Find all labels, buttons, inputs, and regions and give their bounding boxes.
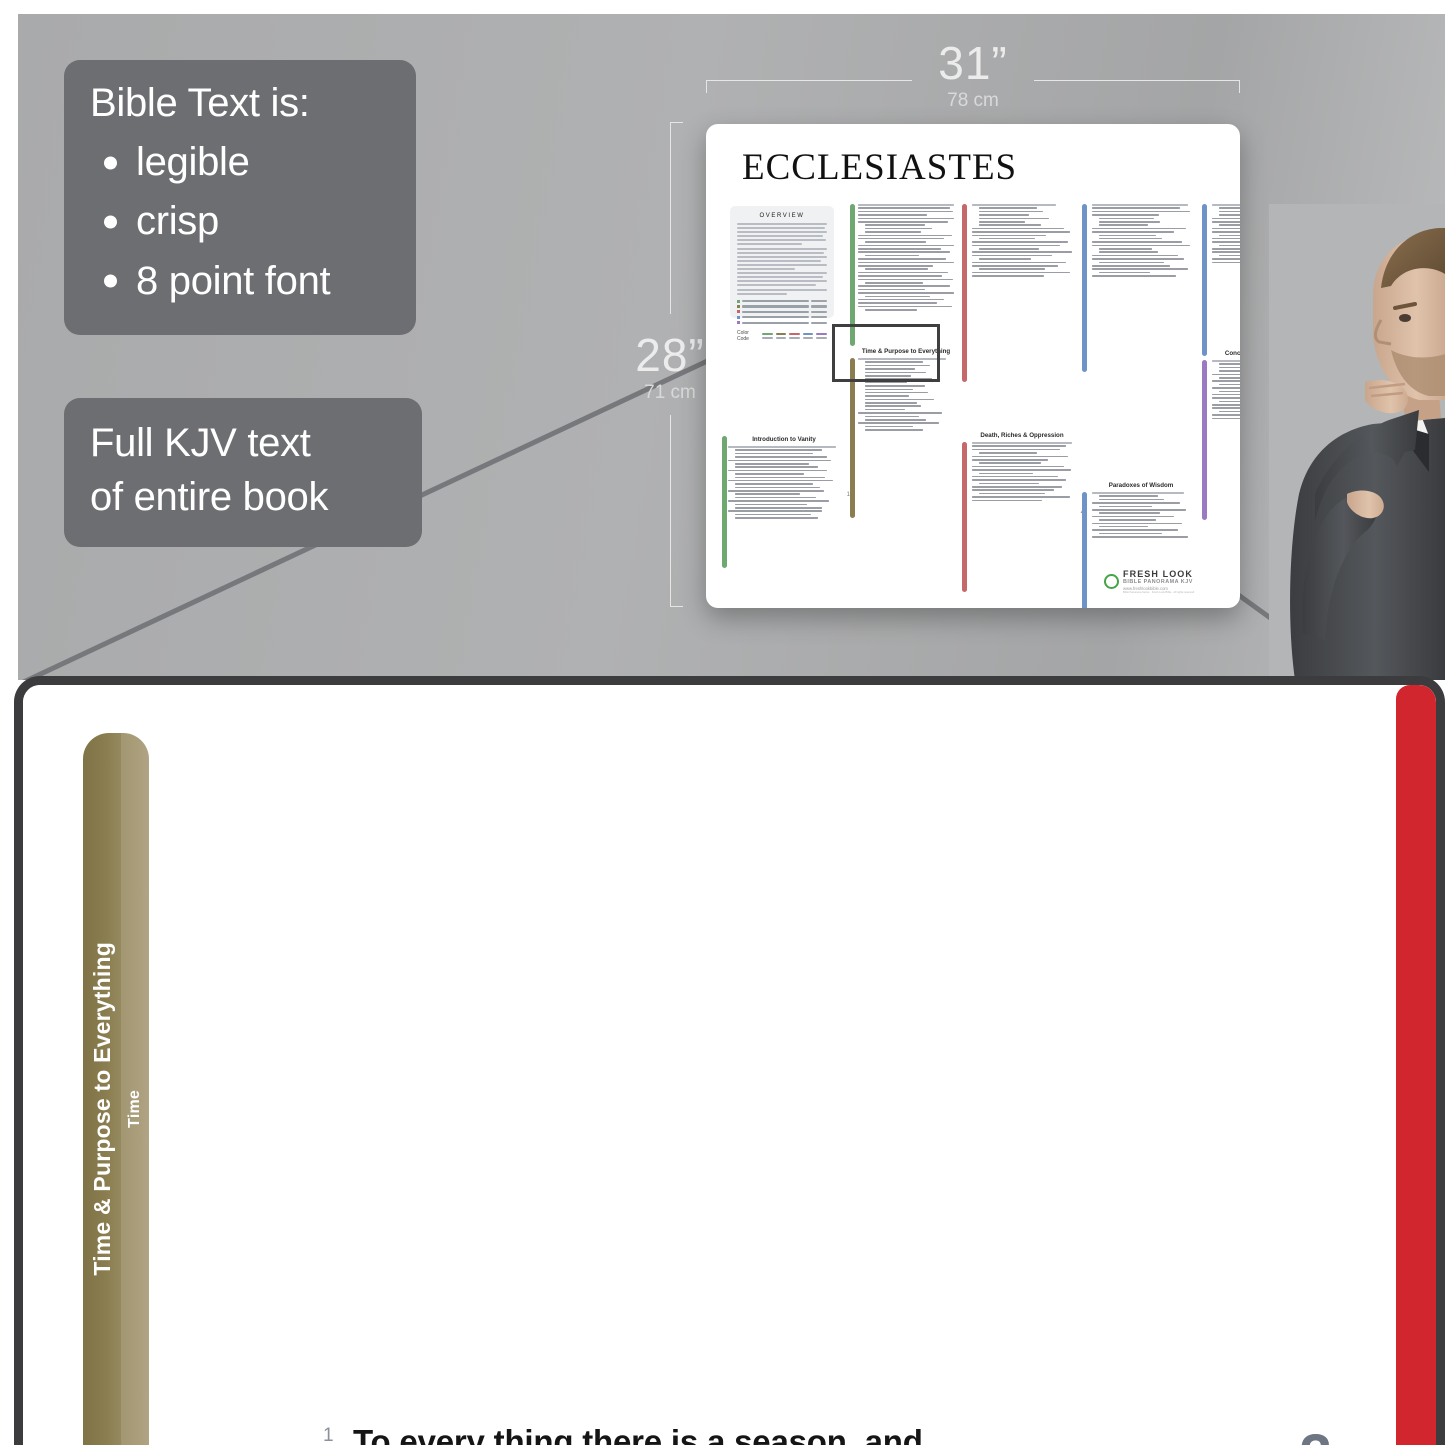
- overview-card: OVERVIEW: [730, 206, 834, 318]
- poster-logo: FRESH LOOK BIBLE PANORAMA KJV www.freshl…: [1104, 570, 1194, 594]
- section-tab-group[interactable]: Time & Purpose to Everything Time: [83, 733, 149, 1445]
- section-tab-label: Time & Purpose to Everything: [89, 942, 116, 1276]
- chapter-color-edge: [1396, 685, 1436, 1445]
- poster-section-heading: Conclusion to Fear God: [1212, 350, 1240, 357]
- freshlook-ring-icon: [1104, 574, 1119, 589]
- overview-paragraphs: [737, 223, 827, 295]
- dimension-label-width: 31” 78 cm: [706, 40, 1240, 112]
- toc-row: [737, 305, 827, 308]
- chapter-number: 3: [1300, 1427, 1332, 1445]
- verse-list: 1To every thing there is a season, anda …: [323, 1425, 1223, 1445]
- overview-heading: OVERVIEW: [737, 213, 827, 219]
- verse-number: 1: [323, 1426, 349, 1445]
- subsection-tab-time[interactable]: Time: [121, 733, 149, 1445]
- verse-fragment: To every thing there is a season, and: [353, 1423, 923, 1445]
- callout-text-quality-list: legible crisp 8 point font: [90, 133, 390, 311]
- color-code-label: Color Code: [737, 330, 759, 342]
- callout-coverage-line1: Full KJV text: [90, 416, 396, 470]
- verse-text: To every thing there is a season, and: [353, 1423, 923, 1445]
- poster-section-heading: Paradoxes of Wisdom: [1092, 482, 1190, 489]
- viewer-photo: [1269, 204, 1445, 680]
- section-tab-time-and-purpose[interactable]: Time & Purpose to Everything: [83, 733, 121, 1445]
- callout-bullet-font-size: 8 point font: [90, 252, 390, 311]
- poster-section-heading: Death, Riches & Oppression: [972, 432, 1072, 439]
- magnified-page: Time & Purpose to Everything Time 3 1To …: [23, 685, 1436, 1445]
- toc-row: [737, 316, 827, 319]
- toc-row: [737, 310, 827, 313]
- toc-row: [737, 321, 827, 324]
- callout-text-quality: Bible Text is: legible crisp 8 point fon…: [64, 60, 416, 335]
- page-root: Bible Text is: legible crisp 8 point fon…: [0, 0, 1445, 1445]
- verse-line: 1To every thing there is a season, and: [323, 1425, 1223, 1445]
- poster-content-area: OVERVIEW: [720, 200, 1230, 564]
- magnified-region-highlight: [832, 324, 940, 382]
- bible-panorama-poster[interactable]: ECCLESIASTES OVERVIEW: [706, 124, 1240, 608]
- width-cm: 78 cm: [706, 90, 1240, 112]
- callout-bullet-legible: legible: [90, 133, 390, 192]
- width-inches: 31”: [706, 40, 1240, 86]
- overview-color-code: Color Code: [737, 330, 827, 342]
- poster-section-heading: Introduction to Vanity: [728, 436, 840, 443]
- poster-title: ECCLESIASTES: [742, 146, 1017, 189]
- logo-brand: FRESH LOOK: [1123, 570, 1194, 579]
- man-silhouette-illustration: [1269, 204, 1445, 680]
- subsection-tab-label: Time: [126, 1090, 144, 1128]
- callout-coverage-line2: of entire book: [90, 470, 396, 524]
- overview-table-of-contents: [737, 300, 827, 325]
- toc-row: [737, 300, 827, 303]
- magnified-text-panel: Time & Purpose to Everything Time 3 1To …: [14, 676, 1445, 1445]
- logo-product: BIBLE PANORAMA KJV: [1123, 579, 1194, 585]
- callout-coverage: Full KJV text of entire book: [64, 398, 422, 547]
- logo-fineprint: Bible Panorama Series · Fresh Look Bible…: [1123, 591, 1194, 594]
- callout-bullet-crisp: crisp: [90, 192, 390, 251]
- poster-display-scene: Bible Text is: legible crisp 8 point fon…: [18, 14, 1445, 680]
- callout-text-quality-title: Bible Text is:: [90, 80, 390, 127]
